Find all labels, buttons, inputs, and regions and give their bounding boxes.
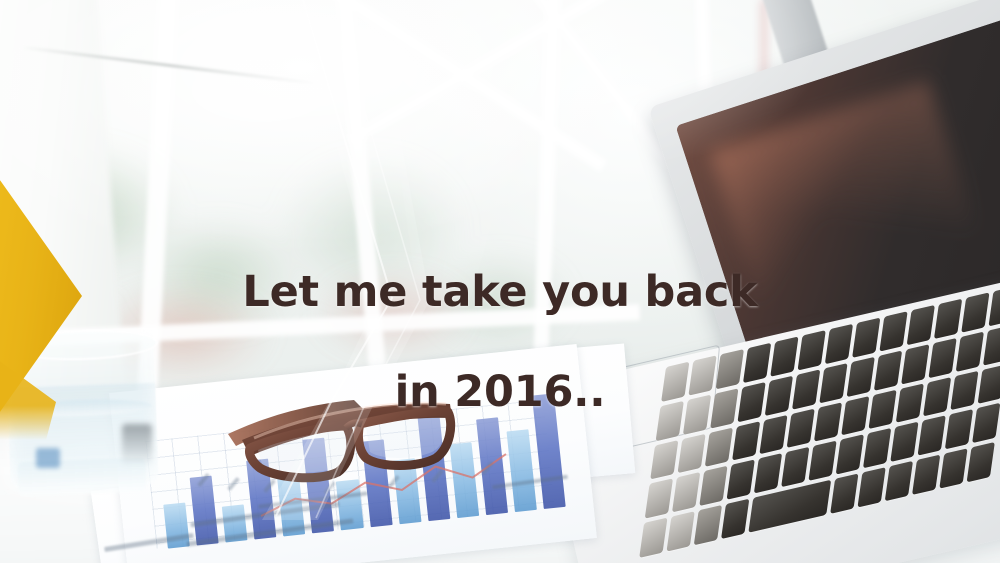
keyboard-key bbox=[694, 505, 722, 545]
headline-line-1: Let me take you back bbox=[0, 268, 1000, 318]
headline-line-2: in 2016.. bbox=[0, 368, 1000, 418]
keyboard-key bbox=[639, 518, 667, 558]
keyboard-key bbox=[699, 466, 727, 506]
keyboard-key bbox=[830, 474, 858, 514]
keyboard-key bbox=[857, 467, 885, 507]
keyboard-key bbox=[721, 499, 749, 539]
keyboard-key bbox=[672, 472, 700, 512]
video-slide: Let me take you back in 2016.. bbox=[0, 0, 1000, 563]
keyboard-key bbox=[666, 511, 694, 551]
headline: Let me take you back in 2016.. bbox=[0, 218, 1000, 467]
keyboard-key bbox=[645, 479, 673, 519]
